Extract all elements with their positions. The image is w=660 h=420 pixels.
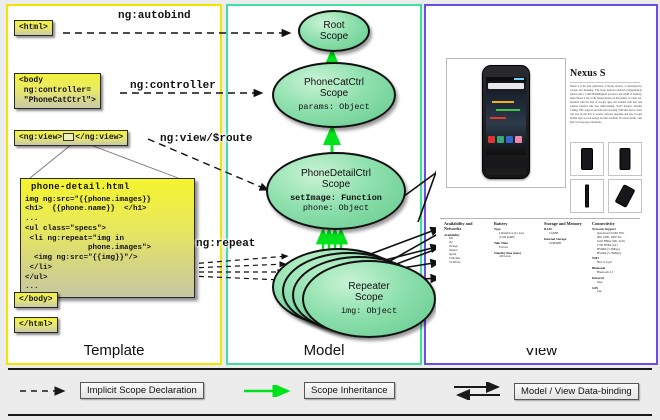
- spec-value: Bluetooth 2.1: [592, 271, 644, 275]
- spec-value: 512MB: [544, 232, 588, 236]
- scope-repeater[interactable]: Repeater Scope img: Object: [302, 260, 436, 338]
- edge-label-repeat: ng:repeat: [196, 238, 255, 250]
- legend-bottom-divider: [8, 414, 652, 416]
- green-arrow-icon: [242, 385, 298, 397]
- scope-phonedetailctrl[interactable]: PhoneDetailCtrl Scope setImage: Function…: [266, 152, 406, 230]
- prop-img: img: Object: [341, 306, 397, 316]
- prop-phone: phone: Object: [303, 203, 369, 213]
- legend-label: Scope Inheritance: [304, 382, 395, 399]
- thumb-phone-side: [585, 185, 589, 208]
- spec-col-heading: Connectivity: [592, 221, 644, 226]
- edge-label-view-route: ng:view/$route: [160, 133, 252, 145]
- double-arrow-icon: [452, 382, 508, 400]
- scope-root-line1: Root: [323, 20, 344, 31]
- legend-item-scope-inheritance: Scope Inheritance: [242, 382, 395, 399]
- spec-column-storage: Storage and Memory RAM 512MB Internal St…: [544, 221, 588, 246]
- panel-template-label: Template: [8, 342, 220, 359]
- phone-status-bar: [486, 77, 526, 81]
- view-rendered-page: Nexus S Nexus S is the next generation o…: [436, 16, 644, 348]
- phone-main-image-frame[interactable]: [446, 58, 566, 188]
- spec-column-battery: Battery Type Lithium Ion (Li-Ion) (1500 …: [494, 221, 538, 259]
- code-sheet-phone-detail[interactable]: phone-detail.htmlimg ng:src="{{phone.ima…: [20, 178, 195, 298]
- phone-app-icon-2: [497, 136, 504, 143]
- phone-app-icons: [488, 136, 524, 143]
- edge-label-autobind: ng:autobind: [118, 10, 191, 22]
- phone-device-illustration: [482, 65, 530, 179]
- scope-phonedetailctrl-line1: PhoneDetailCtrl: [301, 168, 371, 179]
- phone-app-icon-4: [515, 136, 522, 143]
- legend-top-divider: [8, 368, 652, 370]
- spec-column-connectivity: Connectivity Network Support Quad-band G…: [592, 221, 644, 294]
- view-thumbnail-4[interactable]: [608, 179, 642, 213]
- dashed-arrow-icon: [18, 385, 74, 397]
- panel-model-label: Model: [228, 342, 420, 359]
- phone-home-bar: [486, 168, 526, 175]
- view-thumbnail-1[interactable]: [570, 142, 604, 176]
- diagram-root: Template Model View: [0, 0, 660, 420]
- scope-repeater-line2: Scope: [355, 292, 383, 303]
- scope-phonecatctrl-line2: Scope: [320, 88, 348, 99]
- specs-divider: [440, 218, 640, 219]
- code-box-ngview[interactable]: <ng:view></ng:view>: [14, 130, 128, 146]
- spec-value: 428 hours: [494, 255, 538, 259]
- code-sheet-code: img ng:src="{{phone.images}} <h1> {{phon…: [25, 196, 151, 292]
- thumb-phone-front: [581, 148, 593, 170]
- scope-repeater-stack: Repeater Scope img: Object: [272, 248, 442, 340]
- legend-item-model-view-data-binding: Model / View Data-binding: [452, 382, 639, 400]
- spec-value: 16384MB: [544, 242, 588, 246]
- ngview-open-tag: <ng:view>: [19, 133, 62, 142]
- spec-value: false: [592, 281, 644, 285]
- code-sheet-filename: phone-detail.html: [25, 182, 190, 194]
- legend-label: Implicit Scope Declaration: [80, 382, 204, 399]
- phone-wallpaper-line-1: [492, 101, 514, 103]
- scope-phonecatctrl-props: params: Object: [298, 103, 369, 113]
- thumb-phone-back: [620, 148, 631, 170]
- spec-value: Vodafone: [444, 261, 488, 265]
- spec-col-heading: Availability and Networks: [444, 221, 488, 232]
- scope-phonedetailctrl-props: setImage: Function phone: Object: [290, 194, 382, 214]
- thumb-phone-angled: [615, 184, 636, 208]
- code-box-html-close[interactable]: </html>: [14, 317, 58, 333]
- legend: Implicit Scope Declaration Scope Inherit…: [0, 368, 660, 420]
- ngview-close-tag: </ng:view>: [75, 133, 123, 142]
- phone-app-icon-1: [488, 136, 495, 143]
- code-box-body-open[interactable]: <body ng:controller= "PhoneCatCtrl">: [14, 73, 101, 109]
- scope-phonecatctrl[interactable]: PhoneCatCtrl Scope params: Object: [272, 62, 396, 128]
- spec-value: 6 hours: [494, 246, 538, 250]
- view-product-description: Nexus S is the next generation of Nexus …: [570, 85, 642, 125]
- code-box-body-close[interactable]: </body>: [14, 292, 58, 308]
- prop-setimage: setImage: Function: [290, 193, 382, 203]
- legend-label: Model / View Data-binding: [514, 383, 639, 400]
- spec-col-heading: Storage and Memory: [544, 221, 588, 226]
- view-thumbnail-2[interactable]: [608, 142, 642, 176]
- scope-phonecatctrl-line1: PhoneCatCtrl: [304, 77, 364, 88]
- spec-value: HSUPA (5.76Mbps): [592, 252, 644, 256]
- spec-value: (1500 mAH): [494, 236, 538, 240]
- view-thumbnail-3[interactable]: [570, 179, 604, 213]
- prop-params: params: Object: [298, 102, 369, 112]
- scope-phonedetailctrl-line2: Scope: [322, 179, 350, 190]
- view-product-title: Nexus S: [570, 68, 606, 79]
- phone-app-icon-3: [506, 136, 513, 143]
- view-title-divider: [570, 82, 640, 83]
- spec-col-heading: Battery: [494, 221, 538, 226]
- scope-root-line2: Scope: [320, 31, 348, 42]
- scope-repeater-line1: Repeater: [348, 281, 389, 292]
- edge-label-controller: ng:controller: [130, 80, 216, 92]
- legend-item-implicit-scope-declaration: Implicit Scope Declaration: [18, 382, 204, 399]
- ngview-slot-icon: [63, 133, 74, 141]
- phone-wallpaper-line-3: [490, 117, 506, 119]
- spec-value: 802.11 b/g/n: [592, 261, 644, 265]
- scope-repeater-props: img: Object: [341, 307, 397, 317]
- phone-search-widget: [488, 83, 524, 89]
- phone-wallpaper-line-2: [496, 109, 520, 111]
- spec-value: true: [592, 290, 644, 294]
- spec-column-availability: Availability and Networks Availability M…: [444, 221, 488, 265]
- scope-root[interactable]: Root Scope: [298, 10, 370, 52]
- phone-screen: [486, 77, 526, 155]
- code-box-html-open[interactable]: <html>: [14, 20, 53, 36]
